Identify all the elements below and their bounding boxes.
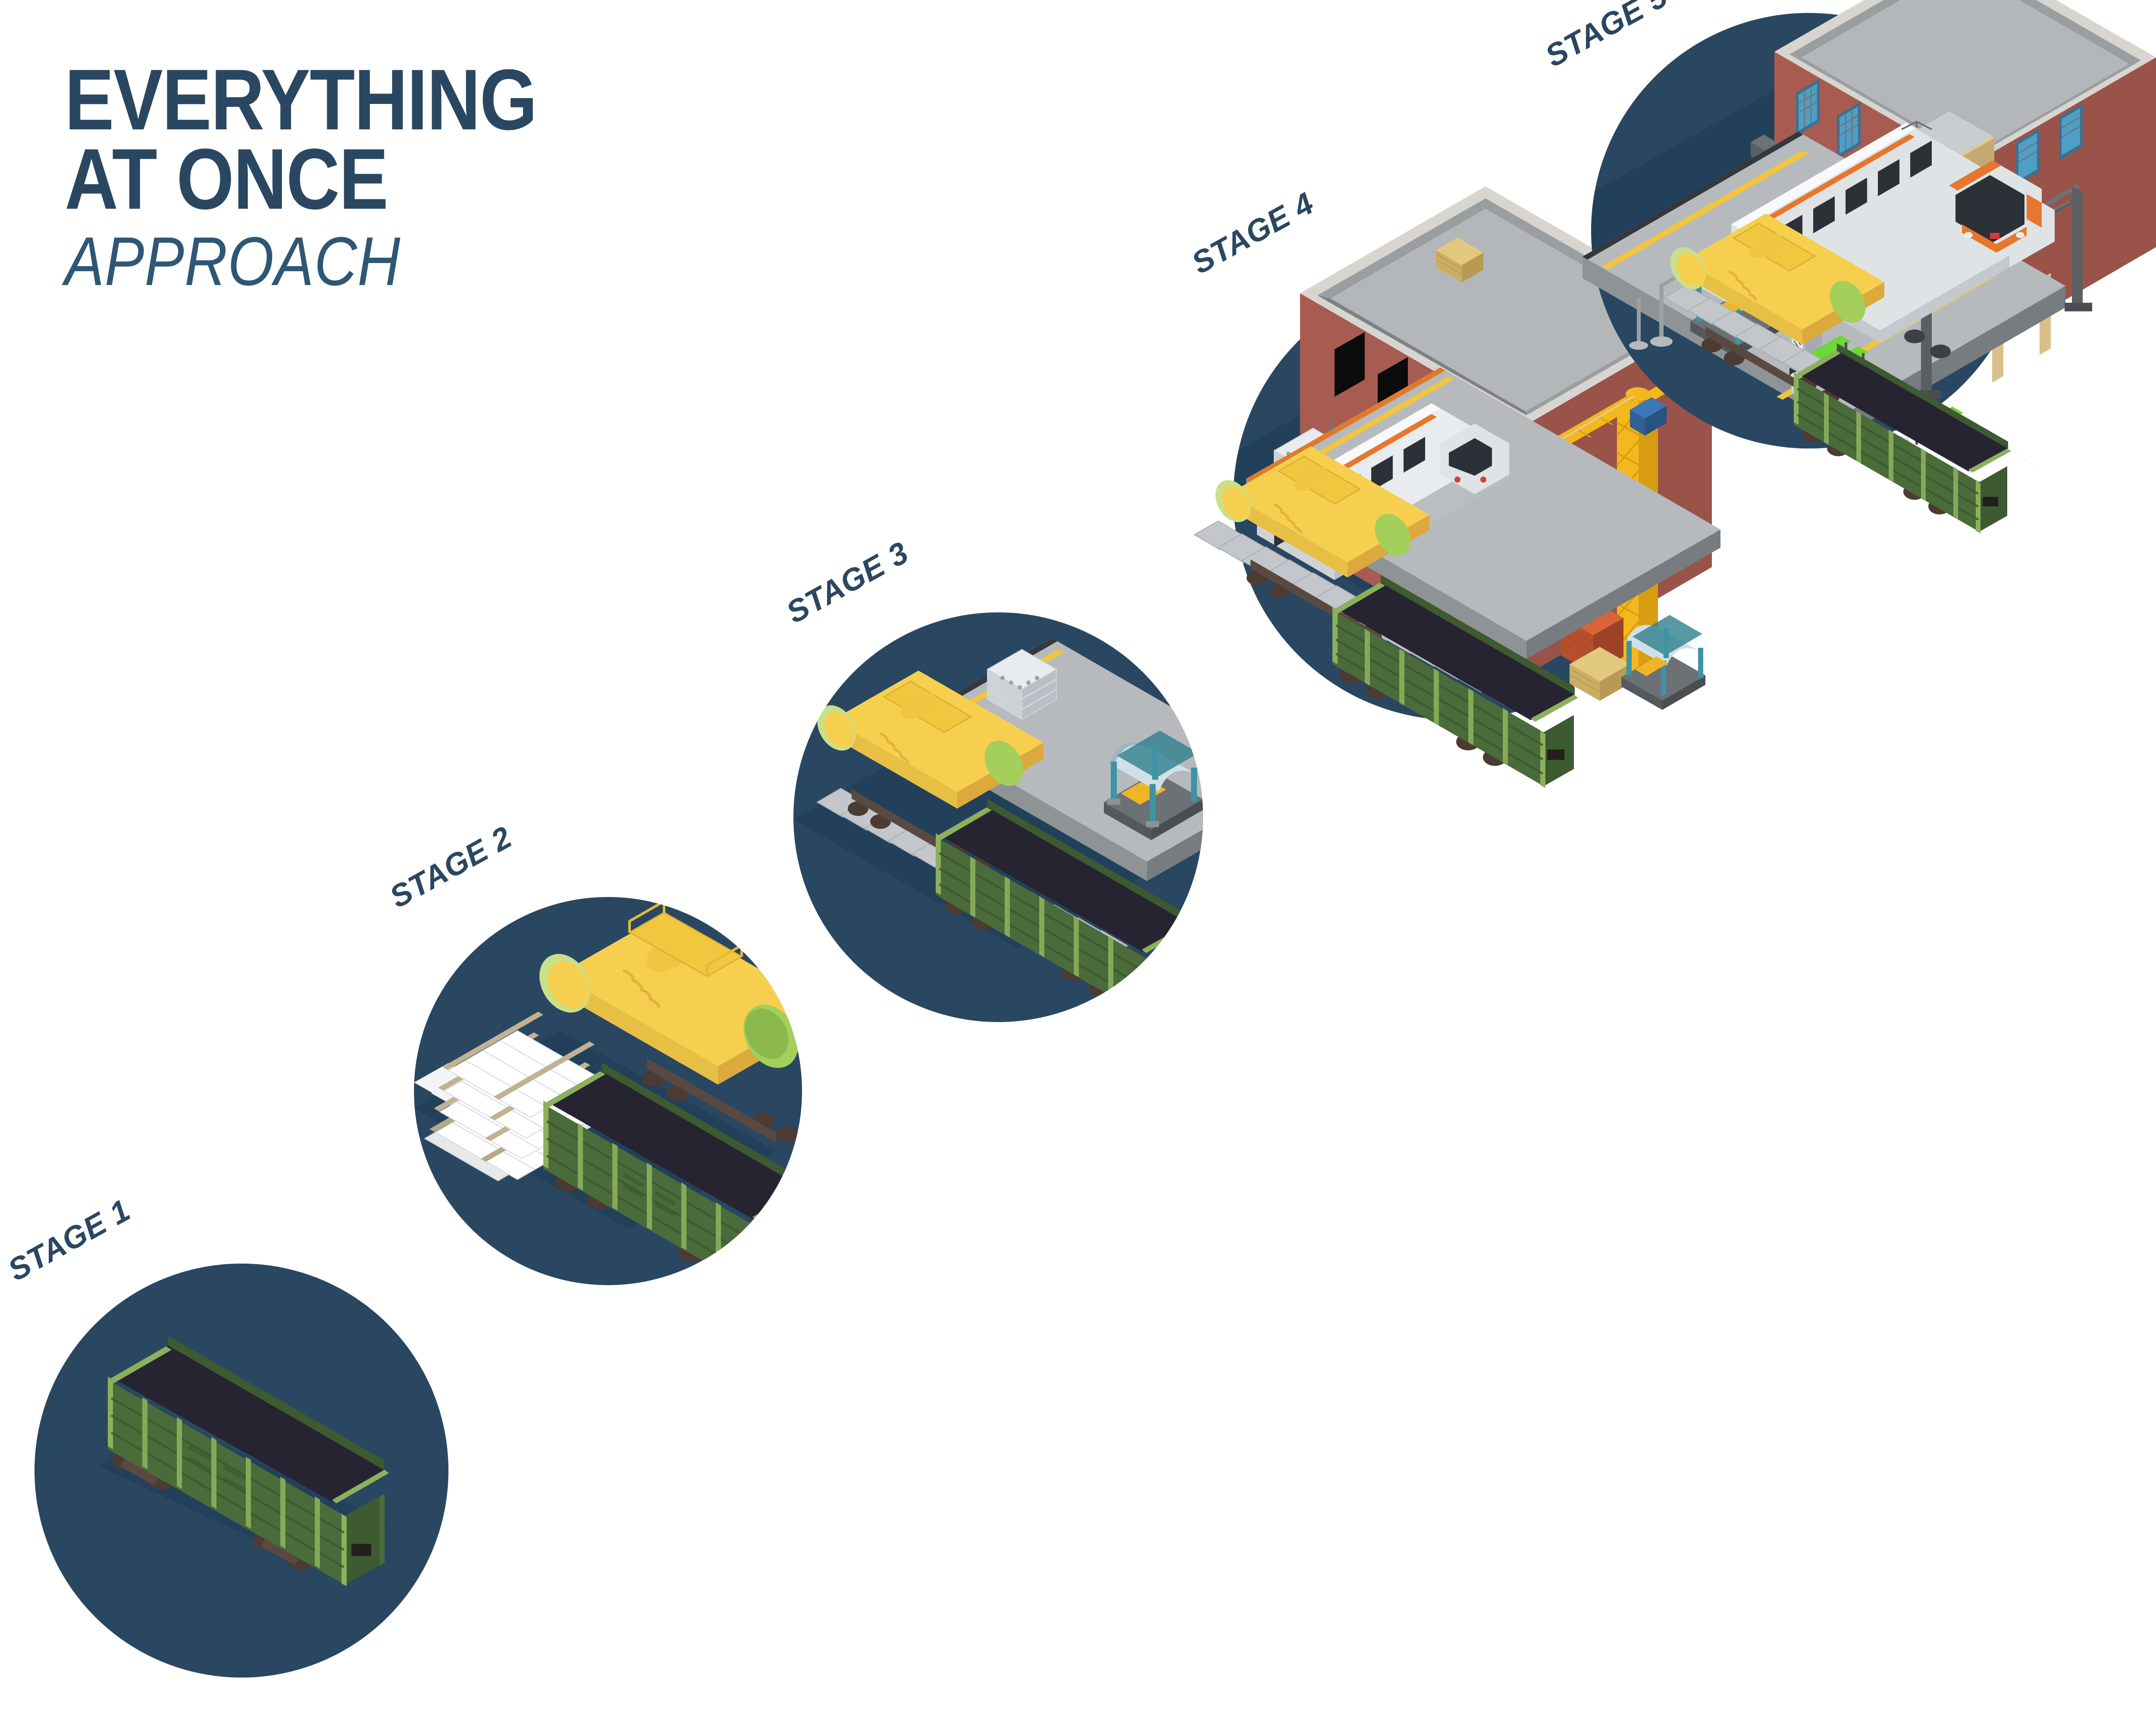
page-title: EVERYTHING AT ONCE APPROACH <box>65 60 927 296</box>
title-line-2: AT ONCE <box>65 140 806 219</box>
title-subtitle: APPROACH <box>65 227 806 296</box>
stage-1-artwork <box>34 1264 448 1678</box>
title-line-1: EVERYTHING <box>65 60 806 140</box>
stage-5-scene[interactable] <box>1535 0 2156 543</box>
stage-1-scene[interactable] <box>34 1264 448 1678</box>
stage-5-artwork <box>1535 0 2156 543</box>
